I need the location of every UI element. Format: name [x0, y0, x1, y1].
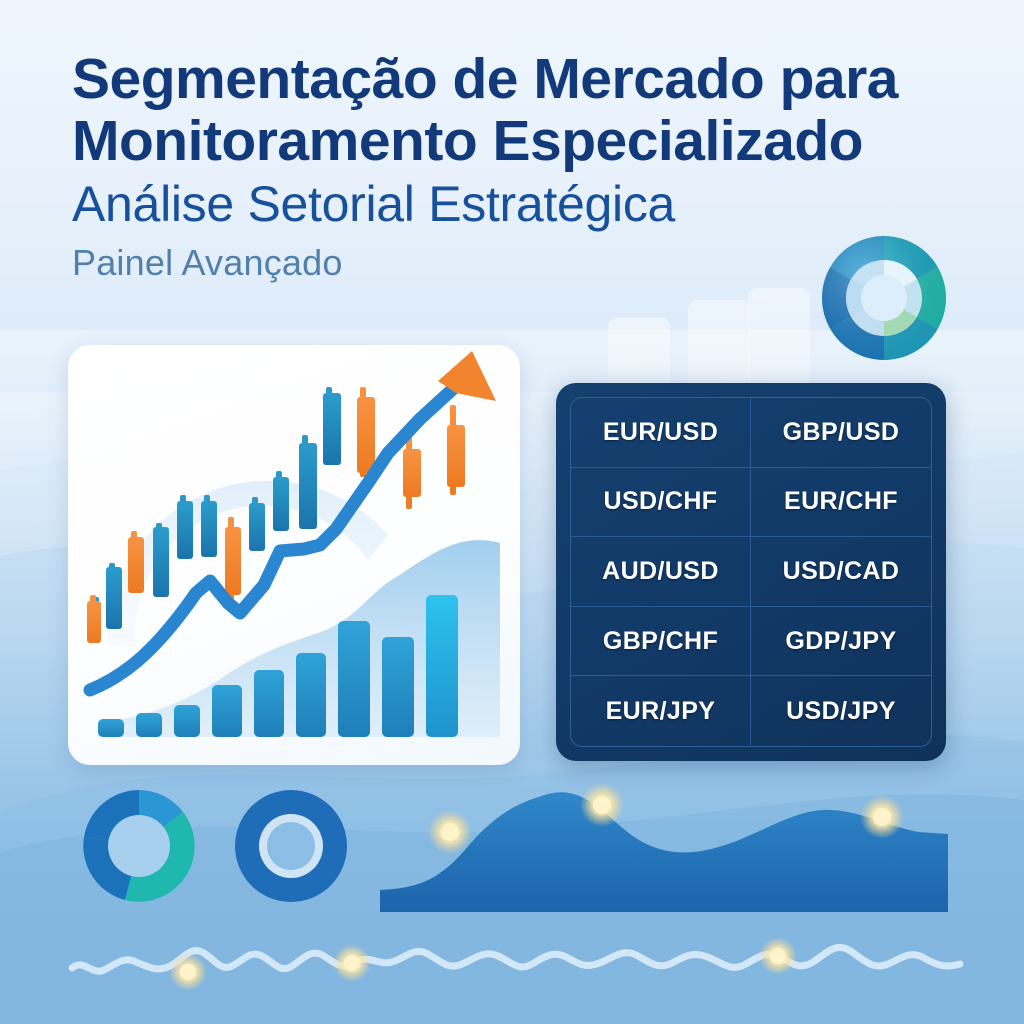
bottom-decoration-strip: [0, 760, 1024, 1024]
donut-logo-icon: [818, 232, 950, 364]
page-title-line-2: Monitoramento Especializado: [72, 110, 952, 172]
bottom-squiggle-line: [72, 937, 960, 991]
infographic-canvas: Segmentação de Mercado para Monitorament…: [0, 0, 1024, 1024]
pair-cell-eur-usd[interactable]: EUR/USD: [571, 398, 751, 468]
page-title-line-1: Segmentação de Mercado para: [72, 48, 952, 110]
pair-cell-gbp-chf[interactable]: GBP/CHF: [571, 607, 751, 677]
pair-cell-usd-chf[interactable]: USD/CHF: [571, 468, 751, 538]
pair-cell-usd-cad[interactable]: USD/CAD: [751, 537, 931, 607]
currency-pairs-grid: EUR/USD GBP/USD USD/CHF EUR/CHF AUD/USD …: [570, 397, 932, 747]
bottom-donut-right: [235, 790, 347, 902]
bg-wave-band-3: [0, 734, 1024, 1024]
bg-wave-band-4: [0, 794, 1024, 1024]
bottom-donut-left: [83, 790, 194, 902]
market-chart-graphic: [68, 345, 520, 765]
mountain-peak-markers: [428, 783, 904, 854]
market-chart-card: [68, 345, 520, 765]
pair-cell-usd-jpy[interactable]: USD/JPY: [751, 676, 931, 746]
pair-cell-aud-usd[interactable]: AUD/USD: [571, 537, 751, 607]
pair-cell-gbp-usd[interactable]: GBP/USD: [751, 398, 931, 468]
bottom-mountain-area: [380, 783, 948, 912]
pair-cell-eur-chf[interactable]: EUR/CHF: [751, 468, 931, 538]
squiggle-markers: [169, 937, 797, 991]
currency-pairs-panel[interactable]: EUR/USD GBP/USD USD/CHF EUR/CHF AUD/USD …: [556, 383, 946, 761]
pair-cell-gdp-jpy[interactable]: GDP/JPY: [751, 607, 931, 677]
pair-cell-eur-jpy[interactable]: EUR/JPY: [571, 676, 751, 746]
page-subtitle: Análise Setorial Estratégica: [72, 172, 952, 236]
